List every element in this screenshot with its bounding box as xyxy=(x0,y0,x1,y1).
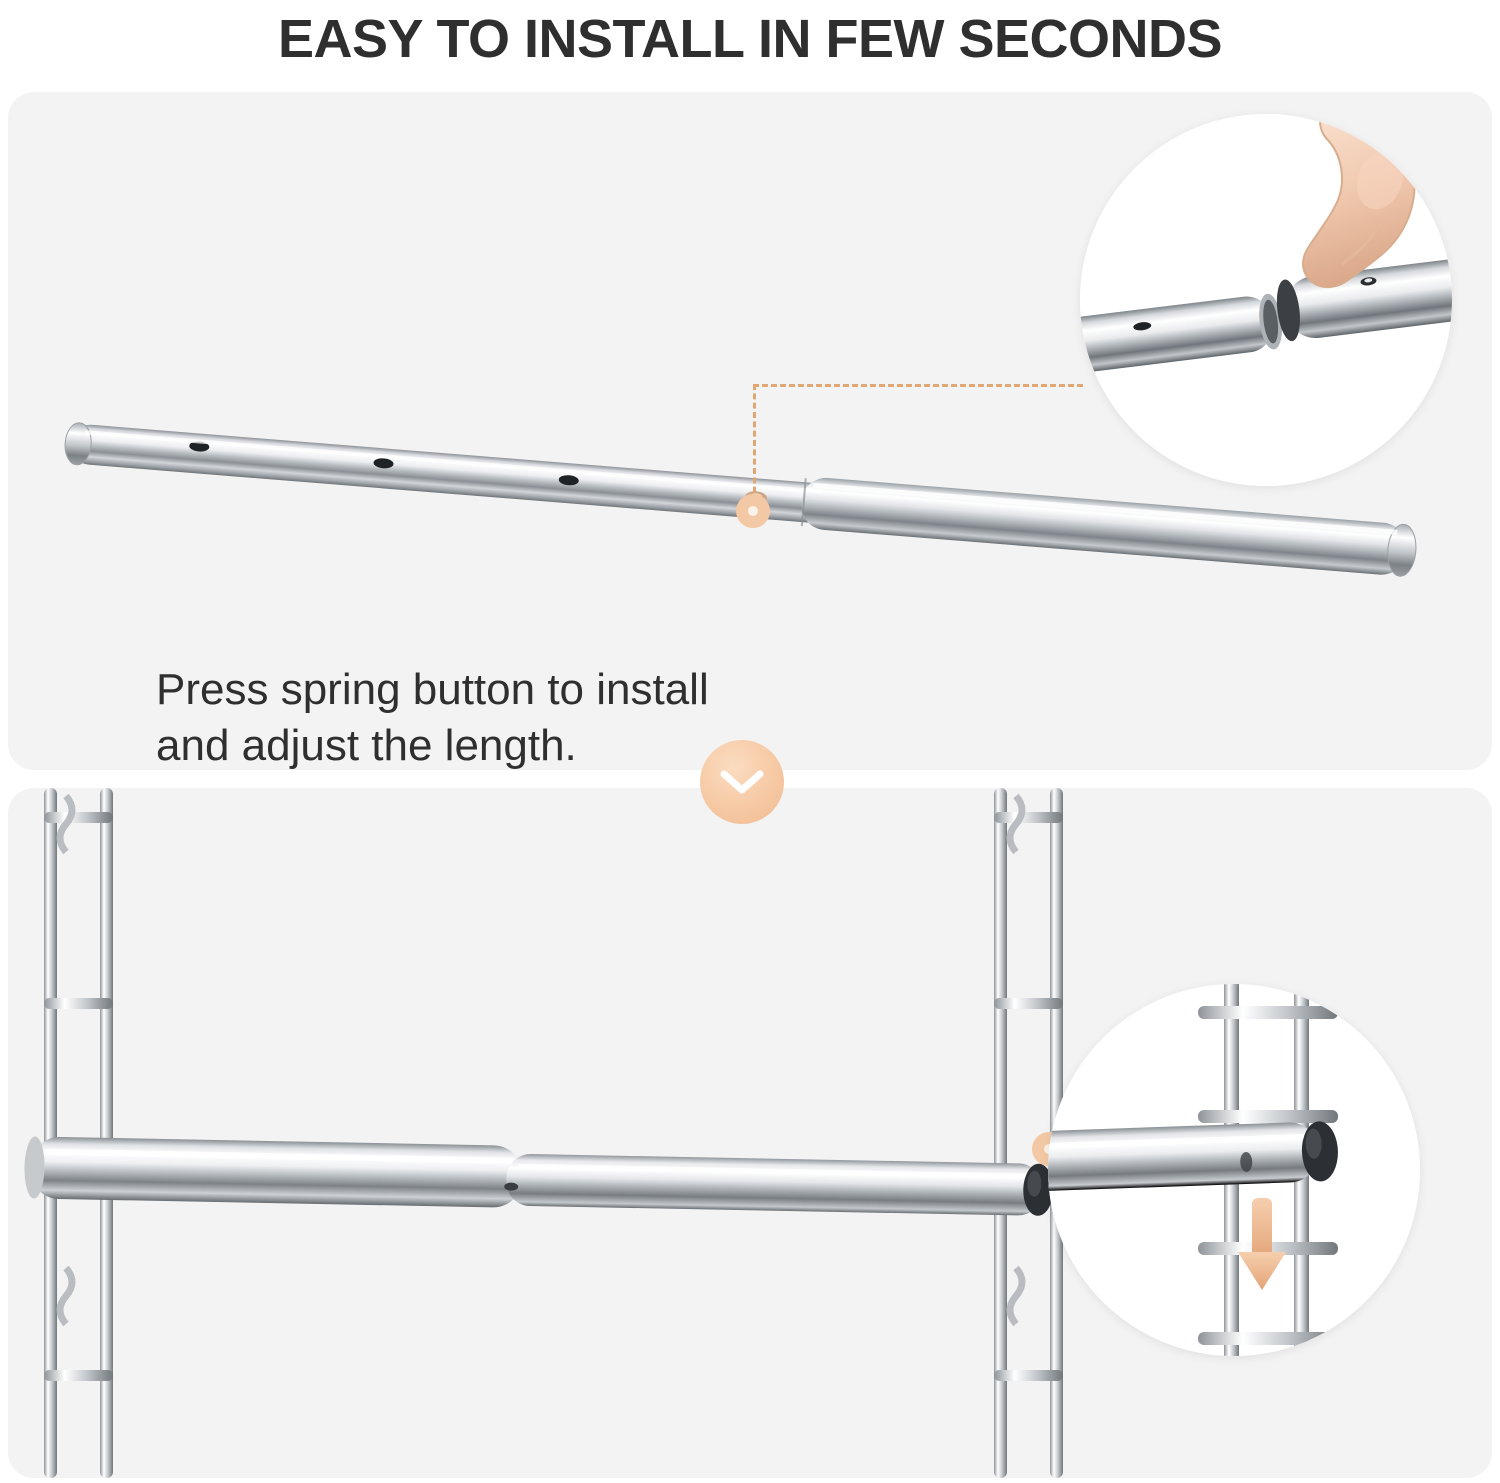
spring-button-closeup xyxy=(1080,114,1452,486)
callout-leader-horizontal xyxy=(753,384,1083,387)
caption-step-1: Press spring button to install and adjus… xyxy=(156,662,709,770)
panel-install-step-1: Press spring button to install and adjus… xyxy=(8,92,1492,770)
callout-leader-vertical xyxy=(753,384,756,502)
page-header: EASY TO INSTALL IN FEW SECONDS xyxy=(0,0,1500,78)
callout-anchor-dot xyxy=(736,494,770,528)
page-title: EASY TO INSTALL IN FEW SECONDS xyxy=(278,8,1222,70)
panel-install-step-2: Choose the suitable height to hang the r… xyxy=(8,788,1492,1478)
rod-bracket-closeup xyxy=(1048,984,1420,1356)
chevron-down-icon xyxy=(700,740,784,824)
